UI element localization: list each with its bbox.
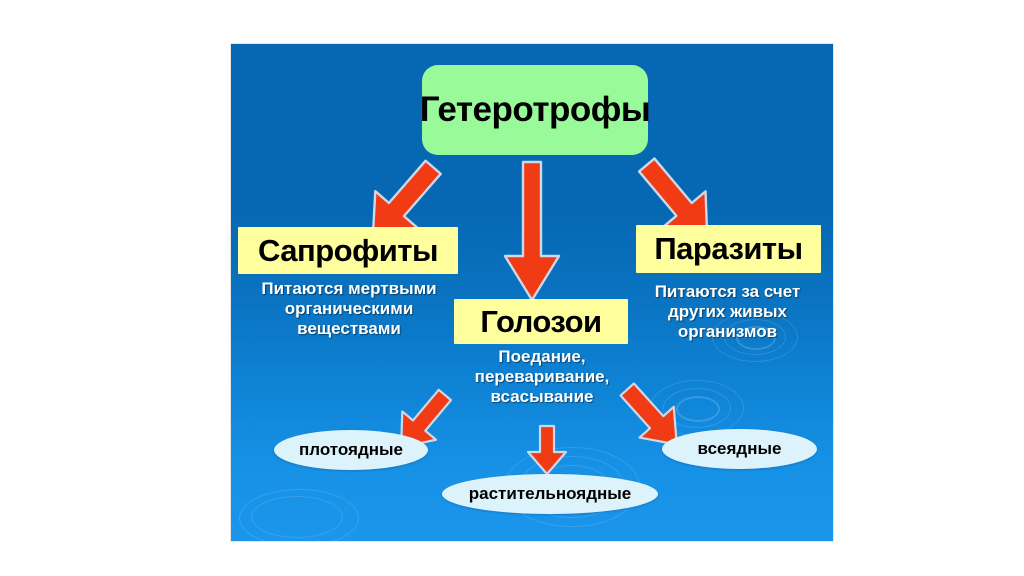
diagram-canvas: Гетеротрофы Сапрофиты Питаются мертвыми … bbox=[231, 44, 833, 541]
ripple-decoration bbox=[663, 388, 731, 428]
node-holozoic[interactable]: Голозои bbox=[454, 299, 628, 344]
node-carnivores[interactable]: плотоядные bbox=[274, 430, 428, 470]
node-heterotrophs-label: Гетеротрофы bbox=[420, 90, 650, 130]
node-omnivores-label: всеядные bbox=[698, 439, 782, 459]
node-parasites-label: Паразиты bbox=[654, 231, 802, 267]
ripple-decoration bbox=[676, 396, 720, 422]
description-saprophytes: Питаются мертвыми органическими вещества… bbox=[231, 279, 469, 339]
node-holozoic-label: Голозои bbox=[480, 304, 601, 340]
node-saprophytes[interactable]: Сапрофиты bbox=[238, 227, 458, 274]
description-parasites: Питаются за счет других живых организмов bbox=[625, 282, 830, 342]
node-heterotrophs[interactable]: Гетеротрофы bbox=[422, 65, 648, 155]
ripple-decoration bbox=[650, 380, 744, 436]
arrow-root-to-holozoic bbox=[501, 160, 563, 302]
ripple-decoration bbox=[251, 496, 343, 538]
node-herbivores-label: растительноядные bbox=[469, 484, 631, 504]
ripple-decoration bbox=[239, 489, 359, 541]
node-parasites[interactable]: Паразиты bbox=[636, 225, 821, 273]
slide-page: Гетеротрофы Сапрофиты Питаются мертвыми … bbox=[0, 0, 1024, 576]
arrow-holozoic-to-herbivores bbox=[525, 424, 569, 476]
node-omnivores[interactable]: всеядные bbox=[662, 429, 817, 469]
node-saprophytes-label: Сапрофиты bbox=[258, 233, 438, 269]
node-carnivores-label: плотоядные bbox=[299, 440, 403, 460]
description-holozoic: Поедание, переваривание, всасывание bbox=[451, 347, 633, 407]
node-herbivores[interactable]: растительноядные bbox=[442, 474, 658, 514]
